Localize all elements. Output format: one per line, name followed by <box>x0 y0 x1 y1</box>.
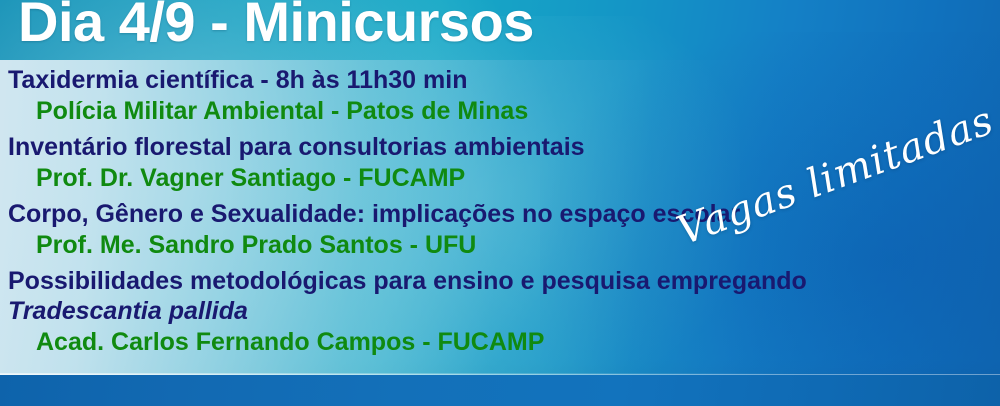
session-course-title: Corpo, Gênero e Sexualidade: implicações… <box>0 202 1000 227</box>
session-speaker: Polícia Militar Ambiental - Patos de Min… <box>0 99 1000 124</box>
title-band: Dia 4/9 - Minicursos <box>0 0 1000 62</box>
event-banner: Dia 4/9 - Minicursos Taxidermia científi… <box>0 0 1000 406</box>
session-species-name: Tradescantia pallida <box>0 299 1000 324</box>
session-speaker: Prof. Me. Sandro Prado Santos - UFU <box>0 233 1000 258</box>
banner-title: Dia 4/9 - Minicursos <box>18 0 534 50</box>
session-course-title: Taxidermia científica - 8h às 11h30 min <box>0 68 1000 93</box>
bottom-band <box>0 375 1000 406</box>
session-speaker: Acad. Carlos Fernando Campos - FUCAMP <box>0 330 1000 355</box>
session-list: Taxidermia científica - 8h às 11h30 min … <box>0 62 1000 355</box>
session-course-title: Possibilidades metodológicas para ensino… <box>0 269 1000 294</box>
